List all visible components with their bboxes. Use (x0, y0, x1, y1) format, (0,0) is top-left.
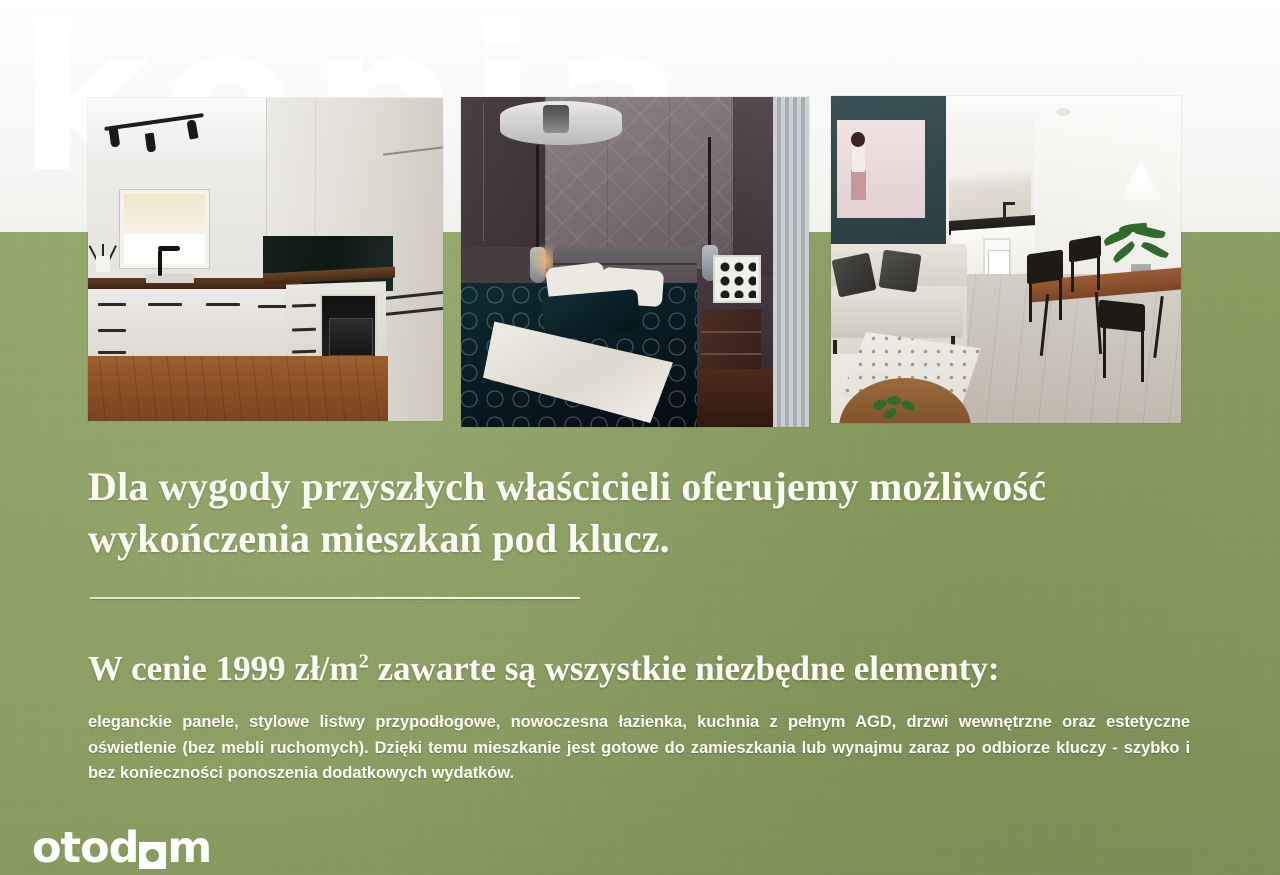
drum-pendant-lamp-icon (500, 101, 622, 145)
section-divider (90, 597, 580, 599)
kitchen-photo[interactable] (88, 98, 443, 421)
dining-chair (1069, 238, 1109, 308)
square-meter-exponent: 2 (359, 650, 369, 672)
otodom-logo[interactable]: otod m (32, 828, 211, 868)
kitchen-sink (146, 274, 194, 283)
headline: Dla wygody przyszłych właścicieli oferuj… (88, 461, 1183, 565)
kitchen-lower-cabinets (88, 289, 303, 359)
pendant-cord (708, 137, 711, 249)
sofa-seat (831, 298, 963, 338)
sofa-cushion (879, 250, 922, 293)
kitchen-wood-floor (88, 356, 388, 421)
logo-square-a-glyph (139, 842, 166, 869)
wall-art-dots (713, 255, 761, 303)
body-copy: eleganckie panele, stylowe listwy przypo… (88, 710, 1190, 787)
ceiling-light-icon (1056, 108, 1070, 116)
dining-chair (1027, 252, 1067, 332)
dining-chair (1099, 302, 1155, 392)
window-blind (124, 194, 205, 234)
price-subheading-suffix: zawarte są wszystkie niezbędne elementy: (369, 649, 1000, 688)
decorative-cushion (541, 289, 640, 337)
coffee-table-plant (873, 396, 923, 422)
pendant-cord (536, 145, 539, 251)
bedroom-photo[interactable] (461, 97, 809, 427)
window-curtain (773, 97, 809, 427)
kitchenette-faucet-icon (1003, 202, 1006, 220)
kitchen-plant-pot (96, 256, 110, 272)
kitchenette-oven (983, 238, 1011, 276)
logo-text-part2: m (167, 828, 211, 868)
price-subheading: W cenie 1999 zł/m2 zawarte są wszystkie … (88, 648, 1198, 690)
framed-artwork (837, 120, 925, 218)
sofa-cushion (831, 252, 876, 297)
kitchen-faucet-icon (158, 250, 162, 276)
nightstand (701, 309, 761, 377)
teal-accent-wall (831, 96, 946, 244)
living-room-photo[interactable] (831, 96, 1181, 423)
listing-poster: kopia (0, 0, 1280, 875)
kitchen-window (120, 190, 209, 268)
price-subheading-prefix: W cenie 1999 zł/m (88, 649, 359, 688)
logo-text-part1: otod (32, 828, 138, 868)
bedroom-wood-floor (687, 369, 773, 427)
